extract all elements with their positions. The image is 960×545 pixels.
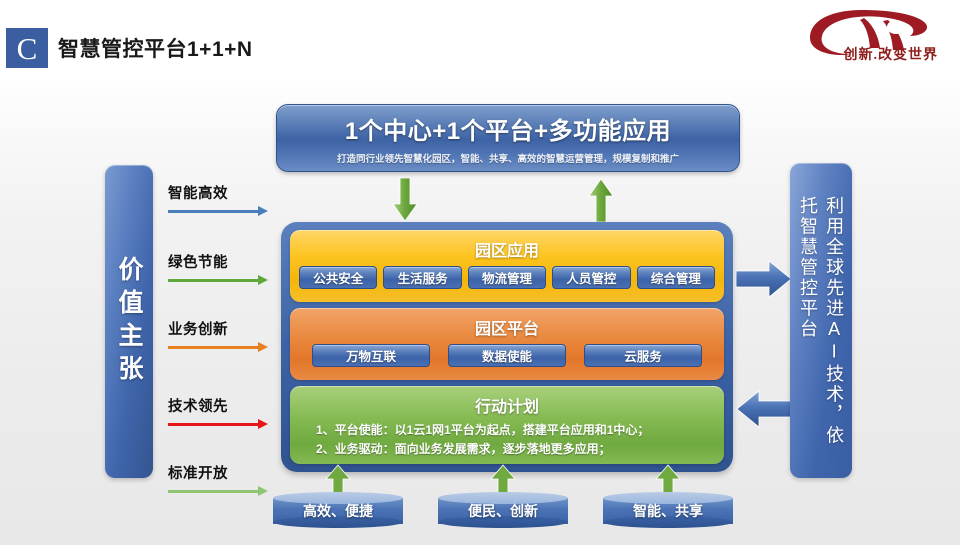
chip-platform[interactable]: 万物互联 — [312, 344, 430, 367]
chip-platform[interactable]: 云服务 — [584, 344, 702, 367]
value-proposition-column: 价值主张 — [105, 165, 153, 478]
brand-letter: C — [17, 33, 38, 64]
green-up-arrow — [588, 178, 614, 222]
chip-application[interactable]: 物流管理 — [468, 266, 546, 289]
foundation-label: 便民、创新 — [438, 500, 568, 522]
value-prop-row-1: 智能高效 — [168, 182, 280, 216]
ai-technology-column: 利用全球先进AI技术，依托智慧管控平台 — [790, 163, 852, 478]
foundation-cylinder-2[interactable]: 便民、创新 — [438, 492, 568, 528]
band-platform: 园区平台 万物互联 数据使能 云服务 — [290, 308, 724, 380]
foundation-label: 智能、共享 — [603, 500, 733, 522]
foundation-cylinder-1[interactable]: 高效、便捷 — [273, 492, 403, 528]
action-plan-line: 1、平台使能：以1云1网1平台为起点，搭建平台应用和1中心； — [290, 421, 724, 440]
slide-canvas: C 智慧管控平台1+1+N 创新.改变世界 1个中心+1个平台+多功能应用 打造… — [0, 0, 960, 545]
chip-application[interactable]: 人员管控 — [552, 266, 630, 289]
chip-platform[interactable]: 数据使能 — [448, 344, 566, 367]
blue-left-arrow — [736, 390, 792, 428]
value-prop-arrow — [168, 342, 280, 352]
value-prop-label: 业务创新 — [168, 318, 280, 339]
value-prop-row-5: 标准开放 — [168, 462, 280, 496]
ai-technology-label: 利用全球先进AI技术，依托智慧管控平台 — [795, 196, 847, 446]
hero-banner: 1个中心+1个平台+多功能应用 打造同行业领先智慧化园区，智能、共享、高效的智慧… — [276, 104, 740, 172]
green-down-arrow — [392, 178, 418, 222]
chip-application[interactable]: 公共安全 — [299, 266, 377, 289]
value-prop-arrow — [168, 275, 280, 285]
value-prop-label: 智能高效 — [168, 182, 280, 203]
value-prop-label: 绿色节能 — [168, 251, 280, 272]
band-title: 园区平台 — [290, 308, 724, 339]
chip-application[interactable]: 综合管理 — [637, 266, 715, 289]
band-action-plan: 行动计划 1、平台使能：以1云1网1平台为起点，搭建平台应用和1中心； 2、业务… — [290, 386, 724, 464]
foundation-label: 高效、便捷 — [273, 500, 403, 522]
band-application: 园区应用 公共安全 生活服务 物流管理 人员管控 综合管理 — [290, 230, 724, 302]
band-chip-row: 公共安全 生活服务 物流管理 人员管控 综合管理 — [290, 261, 724, 289]
band-title: 行动计划 — [290, 386, 724, 417]
band-chip-row: 万物互联 数据使能 云服务 — [290, 339, 724, 367]
value-prop-label: 技术领先 — [168, 395, 280, 416]
band-title: 园区应用 — [290, 230, 724, 261]
value-prop-row-3: 业务创新 — [168, 318, 280, 352]
brand-tagline: 创新.改变世界 — [844, 44, 939, 64]
value-prop-arrow — [168, 419, 280, 429]
hero-subtitle: 打造同行业领先智慧化园区，智能、共享、高效的智慧运营管理，规模复制和推广 — [337, 151, 679, 165]
action-plan-line: 2、业务驱动：面向业务发展需求，逐步落地更多应用； — [290, 440, 724, 459]
foundation-cylinder-3[interactable]: 智能、共享 — [603, 492, 733, 528]
page-title: 智慧管控平台1+1+N — [58, 33, 253, 63]
value-proposition-label: 价值主张 — [111, 256, 147, 388]
blue-right-arrow — [736, 260, 792, 298]
slide-header: C 智慧管控平台1+1+N 创新.改变世界 — [0, 0, 960, 78]
chip-application[interactable]: 生活服务 — [383, 266, 461, 289]
value-prop-row-2: 绿色节能 — [168, 251, 280, 285]
hero-title: 1个中心+1个平台+多功能应用 — [345, 111, 671, 146]
value-prop-label: 标准开放 — [168, 462, 280, 483]
value-prop-arrow — [168, 486, 280, 496]
value-prop-row-4: 技术领先 — [168, 395, 280, 429]
value-prop-arrow — [168, 206, 280, 216]
architecture-stack: 园区应用 公共安全 生活服务 物流管理 人员管控 综合管理 园区平台 万物互联 … — [281, 222, 733, 472]
brand-letter-logo: C — [6, 28, 48, 68]
